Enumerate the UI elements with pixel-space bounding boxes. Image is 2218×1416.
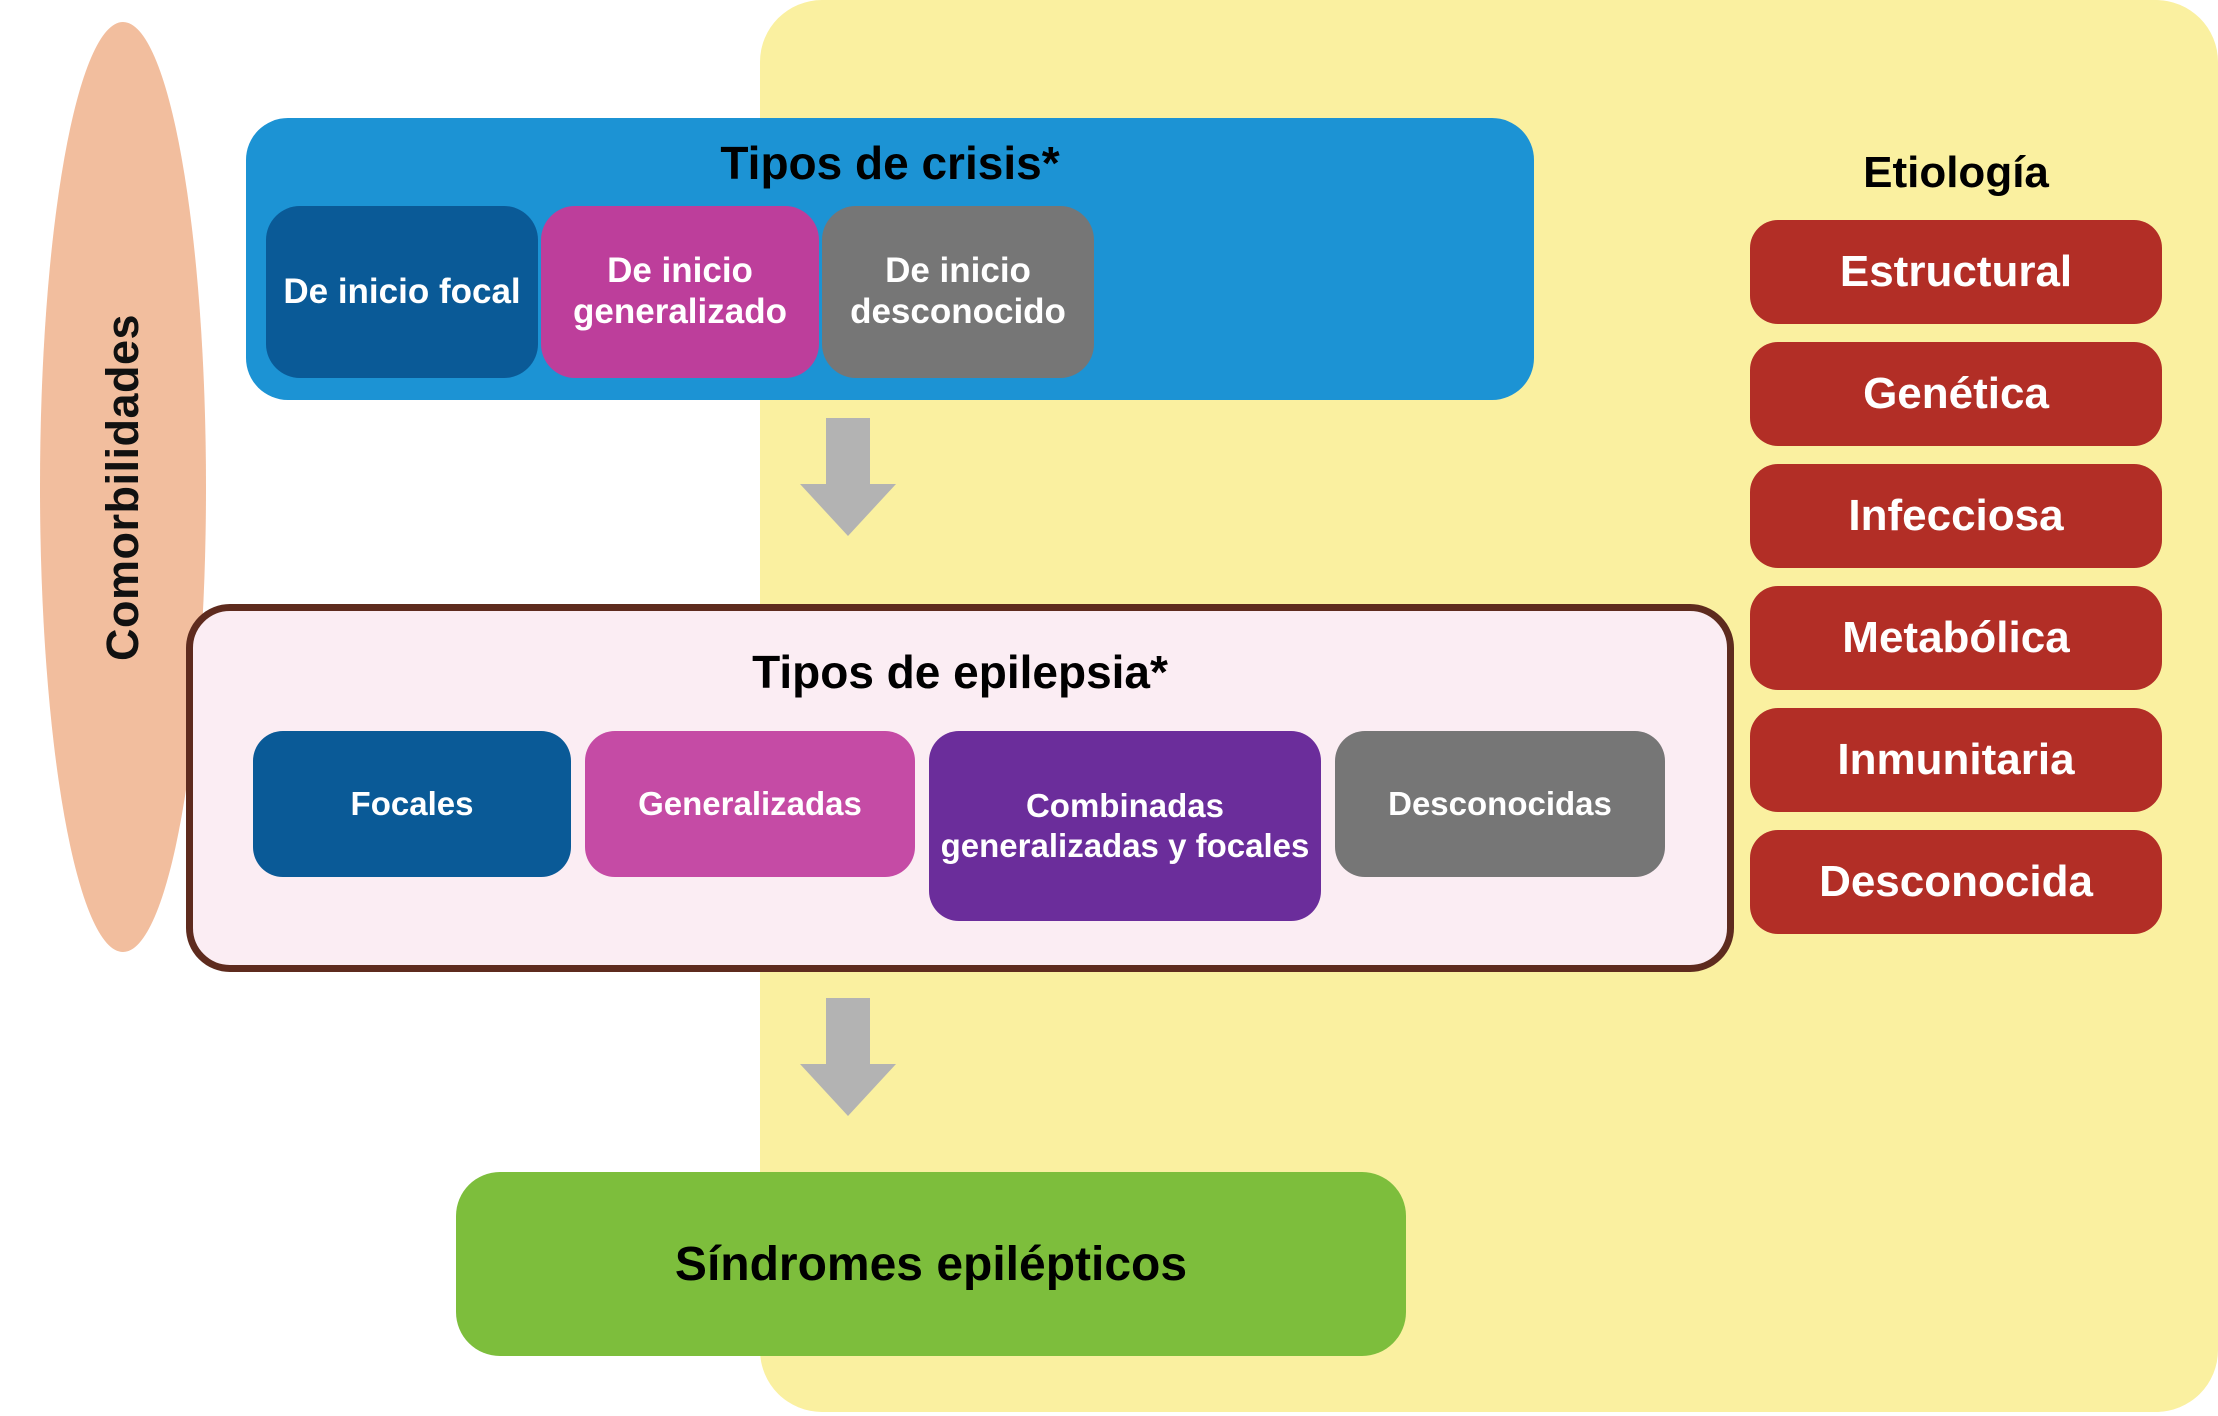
etiology-item-metabolic[interactable]: Metabólica	[1750, 586, 2162, 690]
down-arrow-icon-epilepsy-to-syndromes	[800, 998, 896, 1116]
epileptic-syndromes-box[interactable]: Síndromes epilépticos	[456, 1172, 1406, 1356]
seizure-type-focal-onset[interactable]: De inicio focal	[266, 206, 538, 378]
epilepsy-type-focal[interactable]: Focales	[253, 731, 571, 877]
seizure-types-row: De inicio focal De inicio generalizado D…	[266, 206, 1514, 378]
etiology-item-infectious[interactable]: Infecciosa	[1750, 464, 2162, 568]
epilepsy-types-row: Focales Generalizadas Combinadas general…	[253, 731, 1678, 943]
etiology-item-genetic[interactable]: Genética	[1750, 342, 2162, 446]
arrow-shaft	[826, 998, 870, 1068]
etiology-item-structural[interactable]: Estructural	[1750, 220, 2162, 324]
etiology-item-unknown[interactable]: Desconocida	[1750, 830, 2162, 934]
seizure-type-generalized-onset[interactable]: De inicio generalizado	[541, 206, 819, 378]
diagram-canvas: Comorbilidades Tipos de crisis* De inici…	[0, 0, 2218, 1416]
seizure-types-container: Tipos de crisis* De inicio focal De inic…	[246, 118, 1534, 400]
comorbidities-label: Comorbilidades	[40, 22, 206, 952]
epilepsy-type-unknown[interactable]: Desconocidas	[1335, 731, 1665, 877]
arrow-shaft	[826, 418, 870, 488]
arrow-head	[800, 1064, 896, 1116]
etiology-column: Etiología Estructural Genética Infeccios…	[1750, 148, 2162, 952]
etiology-item-immune[interactable]: Inmunitaria	[1750, 708, 2162, 812]
seizure-types-title: Tipos de crisis*	[246, 136, 1534, 190]
epilepsy-type-generalized[interactable]: Generalizadas	[585, 731, 915, 877]
epilepsy-types-title: Tipos de epilepsia*	[193, 645, 1727, 699]
down-arrow-icon-crisis-to-epilepsy	[800, 418, 896, 536]
etiology-title: Etiología	[1750, 148, 2162, 198]
epilepsy-type-combined-generalized-and-focal[interactable]: Combinadas generalizadas y focales	[929, 731, 1321, 921]
epilepsy-types-container: Tipos de epilepsia* Focales Generalizada…	[186, 604, 1734, 972]
seizure-type-unknown-onset[interactable]: De inicio desconocido	[822, 206, 1094, 378]
arrow-head	[800, 484, 896, 536]
